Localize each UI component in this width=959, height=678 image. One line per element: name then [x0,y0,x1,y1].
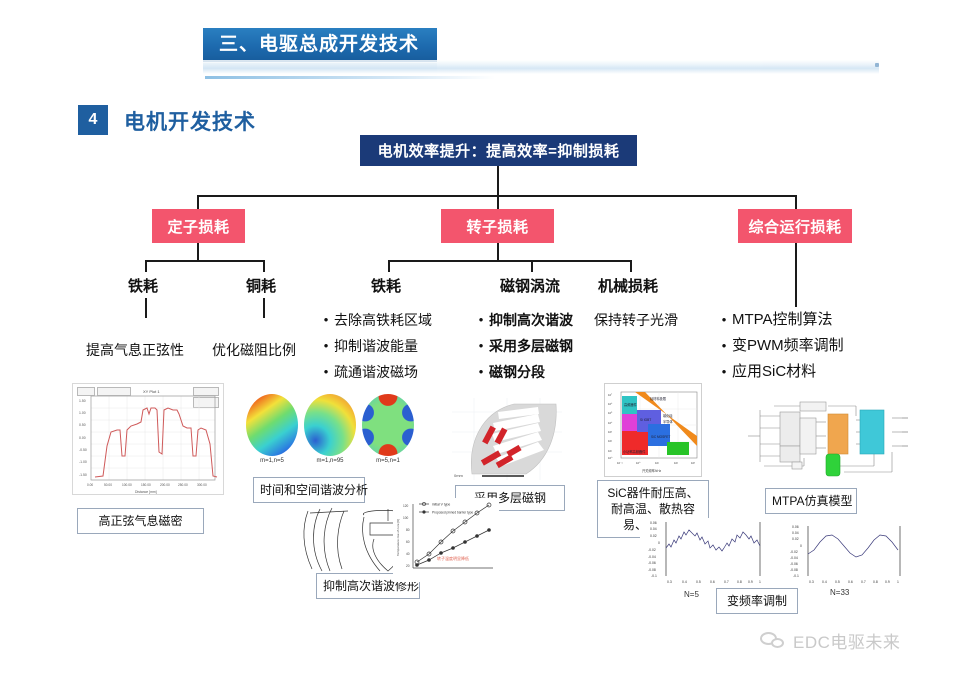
ellipse-mode-2 [304,394,356,456]
connector-rotor-iron [388,260,390,272]
svg-text:0.00: 0.00 [79,436,86,440]
node-stator-iron-loss: 铁耗 [128,275,158,296]
svg-text:10³: 10³ [691,461,695,465]
waveform-n5-label: N=5 [684,590,699,599]
watermark: EDC电驱未来 [760,628,900,653]
node-stator-loss: 定子损耗 [152,209,245,243]
figure-flux-density-waveform: XY Plot 1 1.501.000.50 0.00-0.50-1.00 -1… [72,383,224,495]
svg-text:XY Plot 1: XY Plot 1 [143,389,160,394]
temperature-chart-svg: 12010080 604020 Temperature rise of core… [393,498,499,582]
bullet-dot-icon: • [716,333,732,359]
svg-text:Temperature rise of core [K]: Temperature rise of core [K] [396,519,400,556]
list-item: •去除高铁耗区域 [318,307,432,333]
list-item: •抑制高次谐波 [473,307,573,333]
ellipse-mode-1 [246,394,298,456]
list-item: •疏通谐波磁场 [318,359,432,385]
connector-stator-stem [197,243,199,261]
connector-overall-stem [795,243,797,307]
node-rotor-iron-loss: 铁耗 [371,275,401,296]
connector-stator-bus [145,260,265,262]
list-item: •变PWM频率调制 [716,333,844,359]
list-item: •MTPA控制算法 [716,307,844,333]
svg-text:Proposed pinned barrier type: Proposed pinned barrier type [432,511,473,515]
watermark-label: EDC电驱未来 [793,628,900,653]
header-divider [203,60,879,74]
svg-text:120: 120 [403,504,409,508]
list-item-label: 采用多层磁钢 [489,333,573,359]
list-item-label: 抑制谐波能量 [334,333,418,359]
caption-flux-density: 高正弦气息磁密 [77,508,204,534]
svg-text:0.9: 0.9 [748,580,753,584]
figure-multilayer-magnet-rotor: 0mm [452,398,562,480]
svg-text:100.00: 100.00 [122,483,132,487]
header-divider-accent [205,76,495,79]
list-item-label: 去除高铁耗区域 [334,307,432,333]
connector-copper-to-detail [263,298,265,318]
svg-text:10⁻¹: 10⁻¹ [617,461,623,465]
waveform-n5-svg: 0.060.040.02 0-0.02-0.04 -0.06-0.08-0.1 … [640,518,768,590]
subsection-number-badge: 4 [78,105,108,135]
svg-text:80: 80 [406,528,410,532]
list-item-label: 变PWM频率调制 [732,333,844,359]
svg-text:10¹: 10¹ [608,449,612,453]
connector-rotor-mech [630,260,632,272]
svg-text:200.00: 200.00 [160,483,170,487]
svg-text:20: 20 [406,564,410,568]
svg-text:0: 0 [800,544,802,548]
bullet-dot-icon: • [473,333,489,359]
svg-text:60: 60 [406,540,410,544]
ellipse-label-1: m=1,n=5 [244,458,302,464]
flux-waveform-svg: XY Plot 1 1.501.000.50 0.00-0.50-1.00 -1… [73,384,224,495]
connector-stator-iron [145,260,147,272]
svg-text:0.7: 0.7 [861,580,866,584]
slide-canvas: 三、电驱总成开发技术 4 电机开发技术 电机效率提升：提高效率=抑制损耗 定子损… [0,0,959,678]
svg-text:10⁷: 10⁷ [608,393,612,397]
caption-vfm: 变频率调制 [716,588,798,614]
svg-text:50.00: 50.00 [104,483,112,487]
svg-text:0.04: 0.04 [650,527,657,531]
figure-waveform-n33: 0.060.040.02 0-0.02-0.04 -0.06-0.08-0.1 … [782,522,908,590]
connector-to-overall [795,195,797,210]
ellipse-mode-3 [362,394,414,456]
svg-text:Si IGBT: Si IGBT [640,418,651,422]
list-item: •采用多层磁钢 [473,333,573,359]
svg-text:-0.50: -0.50 [79,448,87,452]
svg-text:initial V type: initial V type [432,503,450,507]
node-overall-loss: 综合运行损耗 [738,209,852,243]
connector-root-stem [497,166,499,196]
svg-text:0.8: 0.8 [737,580,742,584]
svg-text:0.04: 0.04 [792,531,799,535]
wechat-icon [760,632,786,650]
list-item-label: 疏通谐波磁场 [334,359,418,385]
svg-text:0.00: 0.00 [87,483,93,487]
svg-text:1: 1 [759,580,761,584]
figure-mtpa-simulation-model [744,396,912,482]
svg-text:10⁵: 10⁵ [608,411,612,415]
detail-sinusoidal-airgap: 提高气息正弦性 [86,340,184,360]
figure-waveform-n5: 0.060.040.02 0-0.02-0.04 -0.06-0.08-0.1 … [640,518,768,590]
svg-text:1.50: 1.50 [79,399,86,403]
svg-text:10²: 10² [608,439,612,443]
node-stator-copper-loss: 铜耗 [246,275,276,296]
svg-text:150.00: 150.00 [141,483,151,487]
svg-text:0mm: 0mm [454,473,464,478]
sic-x-axis-label: 开关频率/kHz [642,468,662,473]
svg-text:1: 1 [897,580,899,584]
svg-text:-0.02: -0.02 [790,550,798,554]
svg-text:0.5: 0.5 [696,580,701,584]
svg-text:-1.00: -1.00 [79,460,87,464]
svg-text:0.02: 0.02 [650,534,657,538]
detail-reluctance-ratio: 优化磁阻比例 [212,340,296,360]
svg-text:10³: 10³ [608,430,612,434]
connector-rotor-bus [388,260,631,262]
bullet-dot-icon: • [473,307,489,333]
svg-text:250.00: 250.00 [178,483,188,487]
connector-to-stator [197,195,199,210]
figure-sic-device-map: 硅材料极限 碳化硅半导体 高频器件 Si IGBT SiC MOSFET 小功率… [604,383,702,477]
connector-iron-to-detail [145,298,147,318]
ellipse-label-2: m=1,n=95 [300,458,360,464]
list-item-label: 抑制高次谐波 [489,307,573,333]
svg-text:0.3: 0.3 [809,580,814,584]
svg-text:0.4: 0.4 [822,580,827,584]
figure-harmonic-ellipses: m=1,n=5 m=1,n=95 m=5,n=1 [244,392,416,474]
list-item: •应用SiC材料 [716,359,844,385]
svg-text:0.6: 0.6 [848,580,853,584]
bullet-dot-icon: • [716,359,732,385]
list-item-label: 保持转子光滑 [594,307,678,333]
bullets-iron-loss: •去除高铁耗区域 •抑制谐波能量 •疏通谐波磁场 [318,307,432,385]
ellipse-label-3: m=5,n=1 [358,458,416,464]
svg-text:0.8: 0.8 [873,580,878,584]
svg-text:-0.06: -0.06 [648,561,656,565]
svg-text:-0.08: -0.08 [648,568,656,572]
svg-text:转子温度明显降低: 转子温度明显降低 [437,555,469,561]
list-item-label: 磁钢分段 [489,359,545,385]
svg-text:0.9: 0.9 [885,580,890,584]
svg-text:0.5: 0.5 [835,580,840,584]
svg-text:10¹: 10¹ [655,461,659,465]
svg-text:0.06: 0.06 [792,525,799,529]
svg-text:-1.50: -1.50 [79,473,87,477]
svg-text:-0.04: -0.04 [790,556,798,560]
connector-rotor-stem [497,243,499,261]
list-item: •抑制谐波能量 [318,333,432,359]
list-item-label: MTPA控制算法 [732,307,833,333]
svg-text:小功率高频器件: 小功率高频器件 [623,449,646,454]
svg-text:0.6: 0.6 [710,580,715,584]
svg-text:0: 0 [658,541,660,545]
root-node-efficiency: 电机效率提升：提高效率=抑制损耗 [360,135,637,166]
svg-text:100: 100 [403,516,409,520]
svg-text:10⁶: 10⁶ [608,402,612,406]
connector-rotor-eddy [531,260,533,272]
svg-text:0.02: 0.02 [792,537,799,541]
figure-temperature-comparison: 12010080 604020 Temperature rise of core… [393,498,499,582]
svg-text:1.00: 1.00 [79,411,86,415]
mtpa-model-svg [744,396,912,482]
section-title: 三、电驱总成开发技术 [203,28,437,62]
svg-text:-0.06: -0.06 [790,562,798,566]
subsection-title: 电机开发技术 [124,106,256,136]
svg-text:-0.1: -0.1 [651,574,657,578]
svg-text:半导体: 半导体 [663,419,673,424]
sic-map-svg: 硅材料极限 碳化硅半导体 高频器件 Si IGBT SiC MOSFET 小功率… [605,384,702,477]
waveform-n33-svg: 0.060.040.02 0-0.02-0.04 -0.06-0.08-0.1 … [782,522,908,590]
bullet-dot-icon: • [318,359,334,385]
bullets-overall-loss: •MTPA控制算法 •变PWM频率调制 •应用SiC材料 [716,307,844,385]
bullet-dot-icon: • [318,333,334,359]
svg-text:10²: 10² [674,461,678,465]
list-item-label: 应用SiC材料 [732,359,816,385]
bullet-dot-icon: • [716,307,732,333]
waveform-n33-label: N=33 [830,588,849,597]
svg-text:高频器件: 高频器件 [624,402,638,407]
svg-text:-0.08: -0.08 [790,568,798,572]
svg-text:0.50: 0.50 [79,423,86,427]
svg-text:-0.1: -0.1 [793,574,799,578]
svg-text:0.06: 0.06 [650,521,657,525]
svg-text:-0.04: -0.04 [648,555,656,559]
caption-mtpa-model: MTPA仿真模型 [765,488,857,514]
node-rotor-loss: 转子损耗 [441,209,554,243]
svg-text:0.4: 0.4 [682,580,687,584]
caption-harmonic-analysis: 时间和空间谐波分析 [253,477,365,503]
svg-text:Distance [mm]: Distance [mm] [135,490,157,494]
bullet-dot-icon: • [318,307,334,333]
svg-text:40: 40 [406,552,410,556]
svg-text:-0.02: -0.02 [648,548,656,552]
node-magnet-eddy: 磁钢涡流 [500,275,560,296]
svg-text:硅材料极限: 硅材料极限 [650,396,667,401]
connector-to-rotor [497,195,499,210]
bullet-dot-icon: • [473,359,489,385]
svg-text:SiC MOSFET: SiC MOSFET [651,435,670,439]
svg-text:300.00: 300.00 [197,483,207,487]
node-mechanical-loss: 机械损耗 [598,275,658,296]
svg-text:0.3: 0.3 [667,580,672,584]
svg-text:0.7: 0.7 [724,580,729,584]
rotor-sector-svg: 0mm [452,398,562,480]
list-item: 保持转子光滑 [594,307,678,333]
bullets-magnet-eddy: •抑制高次谐波 •采用多层磁钢 •磁钢分段 [473,307,573,385]
list-item: •磁钢分段 [473,359,573,385]
svg-text:碳化硅: 碳化硅 [663,413,673,418]
bullets-mechanical-loss: 保持转子光滑 [594,307,678,333]
connector-stator-copper [263,260,265,272]
